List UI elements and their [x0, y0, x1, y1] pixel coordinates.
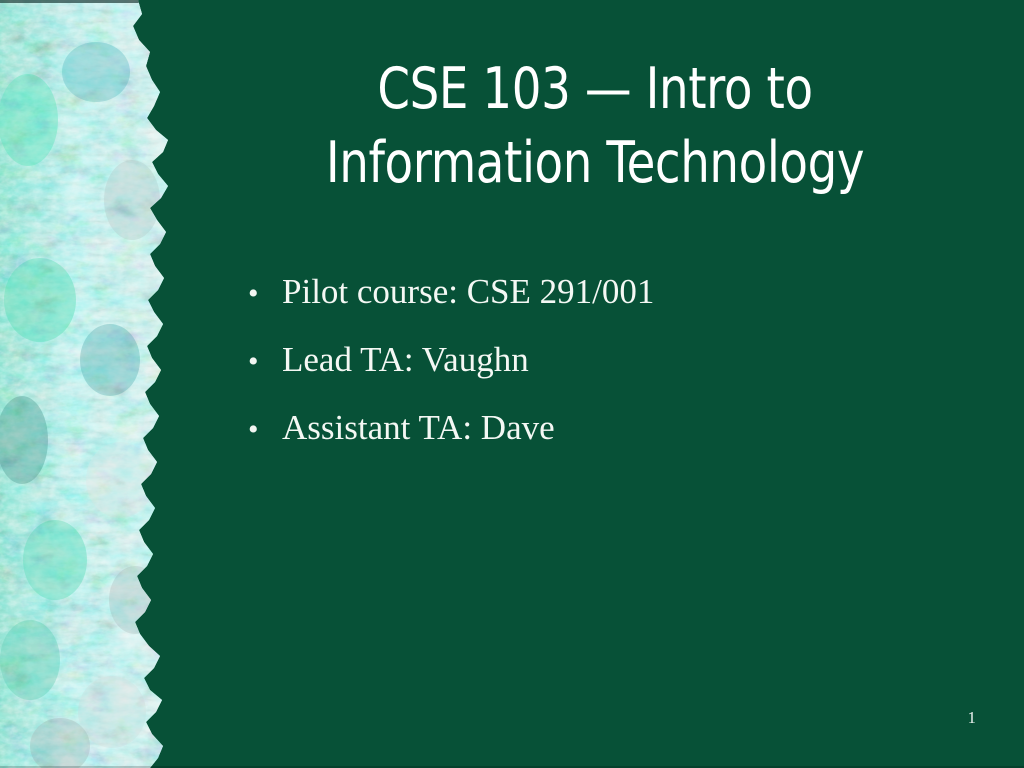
bullet-text-3: Assistant TA: Dave [282, 408, 948, 448]
list-item: • Lead TA: Vaughn [248, 340, 948, 408]
slide-number: 1 [968, 708, 977, 728]
bullet-text-1: Pilot course: CSE 291/001 [282, 272, 948, 312]
bullet-dot-icon: • [248, 410, 282, 450]
title-line-2: Information Technology [271, 126, 919, 200]
bullet-dot-icon: • [248, 274, 282, 314]
list-item: • Assistant TA: Dave [248, 408, 948, 476]
slide-body-bullet-list: • Pilot course: CSE 291/001 • Lead TA: V… [248, 272, 948, 476]
list-item: • Pilot course: CSE 291/001 [248, 272, 948, 340]
decorative-texture-strip [0, 0, 185, 768]
bullet-text-2: Lead TA: Vaughn [282, 340, 948, 380]
texture-strip-graphic [0, 0, 185, 768]
title-line-1: CSE 103 — Intro to [271, 52, 919, 126]
slide-title: CSE 103 — Intro to Information Technolog… [200, 52, 990, 200]
texture-clip-group [0, 0, 185, 768]
bullet-dot-icon: • [248, 342, 282, 382]
slide-canvas: CSE 103 — Intro to Information Technolog… [0, 0, 1024, 768]
